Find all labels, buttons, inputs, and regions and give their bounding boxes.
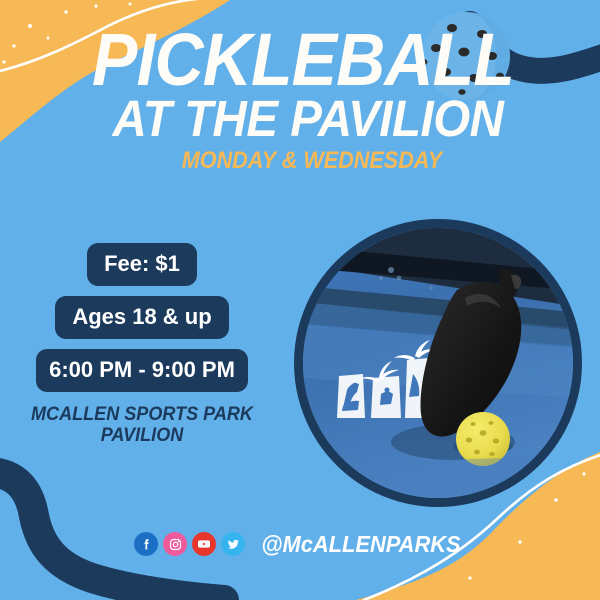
social-footer: @McALLENPARKS bbox=[0, 532, 600, 556]
venue-line-2: PAVILION bbox=[13, 426, 271, 447]
venue-line-1: MCALLEN SPORTS PARK bbox=[13, 405, 271, 426]
facebook-icon[interactable] bbox=[134, 532, 158, 556]
page-title: PICKLEBALL bbox=[30, 28, 576, 92]
pickleball-event-poster: PICKLEBALL AT THE PAVILION MONDAY & WEDN… bbox=[0, 0, 600, 600]
time-badge: 6:00 PM - 9:00 PM bbox=[36, 349, 248, 392]
rail-highlight bbox=[379, 276, 383, 280]
rail-highlight bbox=[397, 276, 402, 281]
fee-badge: Fee: $1 bbox=[87, 243, 197, 286]
social-handle[interactable]: @McALLENPARKS bbox=[261, 533, 460, 556]
youtube-icon[interactable] bbox=[192, 532, 216, 556]
age-badge: Ages 18 & up bbox=[55, 296, 228, 339]
venue-location: MCALLEN SPORTS PARK PAVILION bbox=[13, 405, 271, 446]
event-days: MONDAY & WEDNESDAY bbox=[53, 149, 571, 173]
event-photo bbox=[294, 219, 582, 507]
rail-highlight bbox=[388, 267, 394, 273]
event-details: Fee: $1 Ages 18 & up 6:00 PM - 9:00 PM M… bbox=[6, 243, 278, 446]
twitter-icon[interactable] bbox=[221, 532, 245, 556]
page-subtitle: AT THE PAVILION bbox=[36, 96, 579, 142]
rail-highlight bbox=[429, 286, 433, 290]
headline-block: PICKLEBALL AT THE PAVILION MONDAY & WEDN… bbox=[0, 28, 600, 173]
instagram-icon[interactable] bbox=[163, 532, 187, 556]
